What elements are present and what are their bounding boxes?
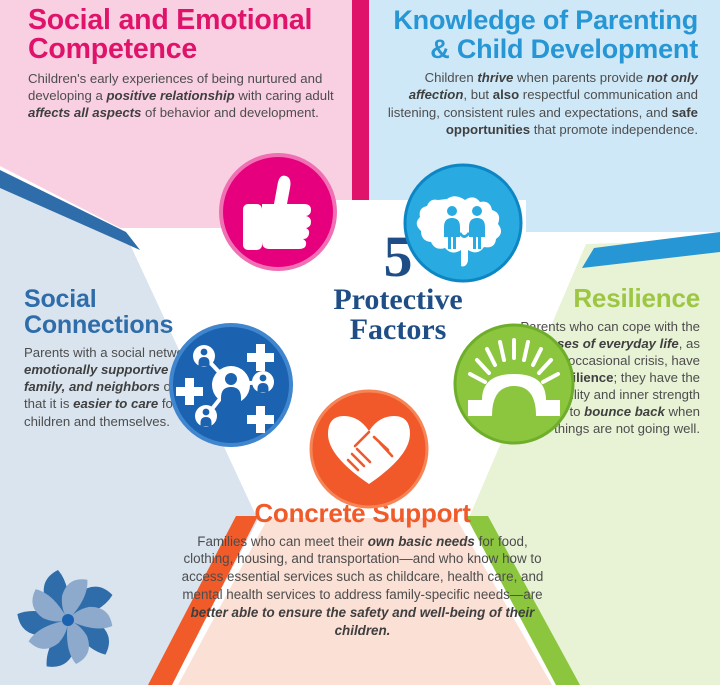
section-knowledge-parenting: Knowledge of Parenting & Child Developme… (380, 6, 698, 138)
heading-resilience: Resilience (500, 285, 700, 312)
handshake-heart-icon (308, 388, 430, 510)
section-social-emotional: Social and Emotional Competence Children… (28, 6, 348, 122)
body-concrete-support: Families who can meet their own basic ne… (175, 533, 550, 640)
body-social-emotional: Children's early experiences of being nu… (28, 70, 348, 121)
center-line-factors: Factors (318, 315, 478, 345)
social-network-icon (168, 322, 294, 448)
heading-social-emotional: Social and Emotional Competence (28, 6, 348, 64)
thumbs-up-icon (218, 152, 338, 272)
center-line-protective: Protective (318, 285, 478, 315)
brain-family-icon (402, 162, 524, 284)
section-concrete-support: Concrete Support Families who can meet t… (175, 500, 550, 639)
body-knowledge-parenting: Children thrive when parents provide not… (380, 69, 698, 138)
infographic-canvas: Social and Emotional Competence Children… (0, 0, 720, 685)
pinwheel-logo (4, 556, 132, 684)
heading-knowledge-parenting: Knowledge of Parenting & Child Developme… (380, 6, 698, 63)
sunrise-icon (452, 322, 576, 446)
